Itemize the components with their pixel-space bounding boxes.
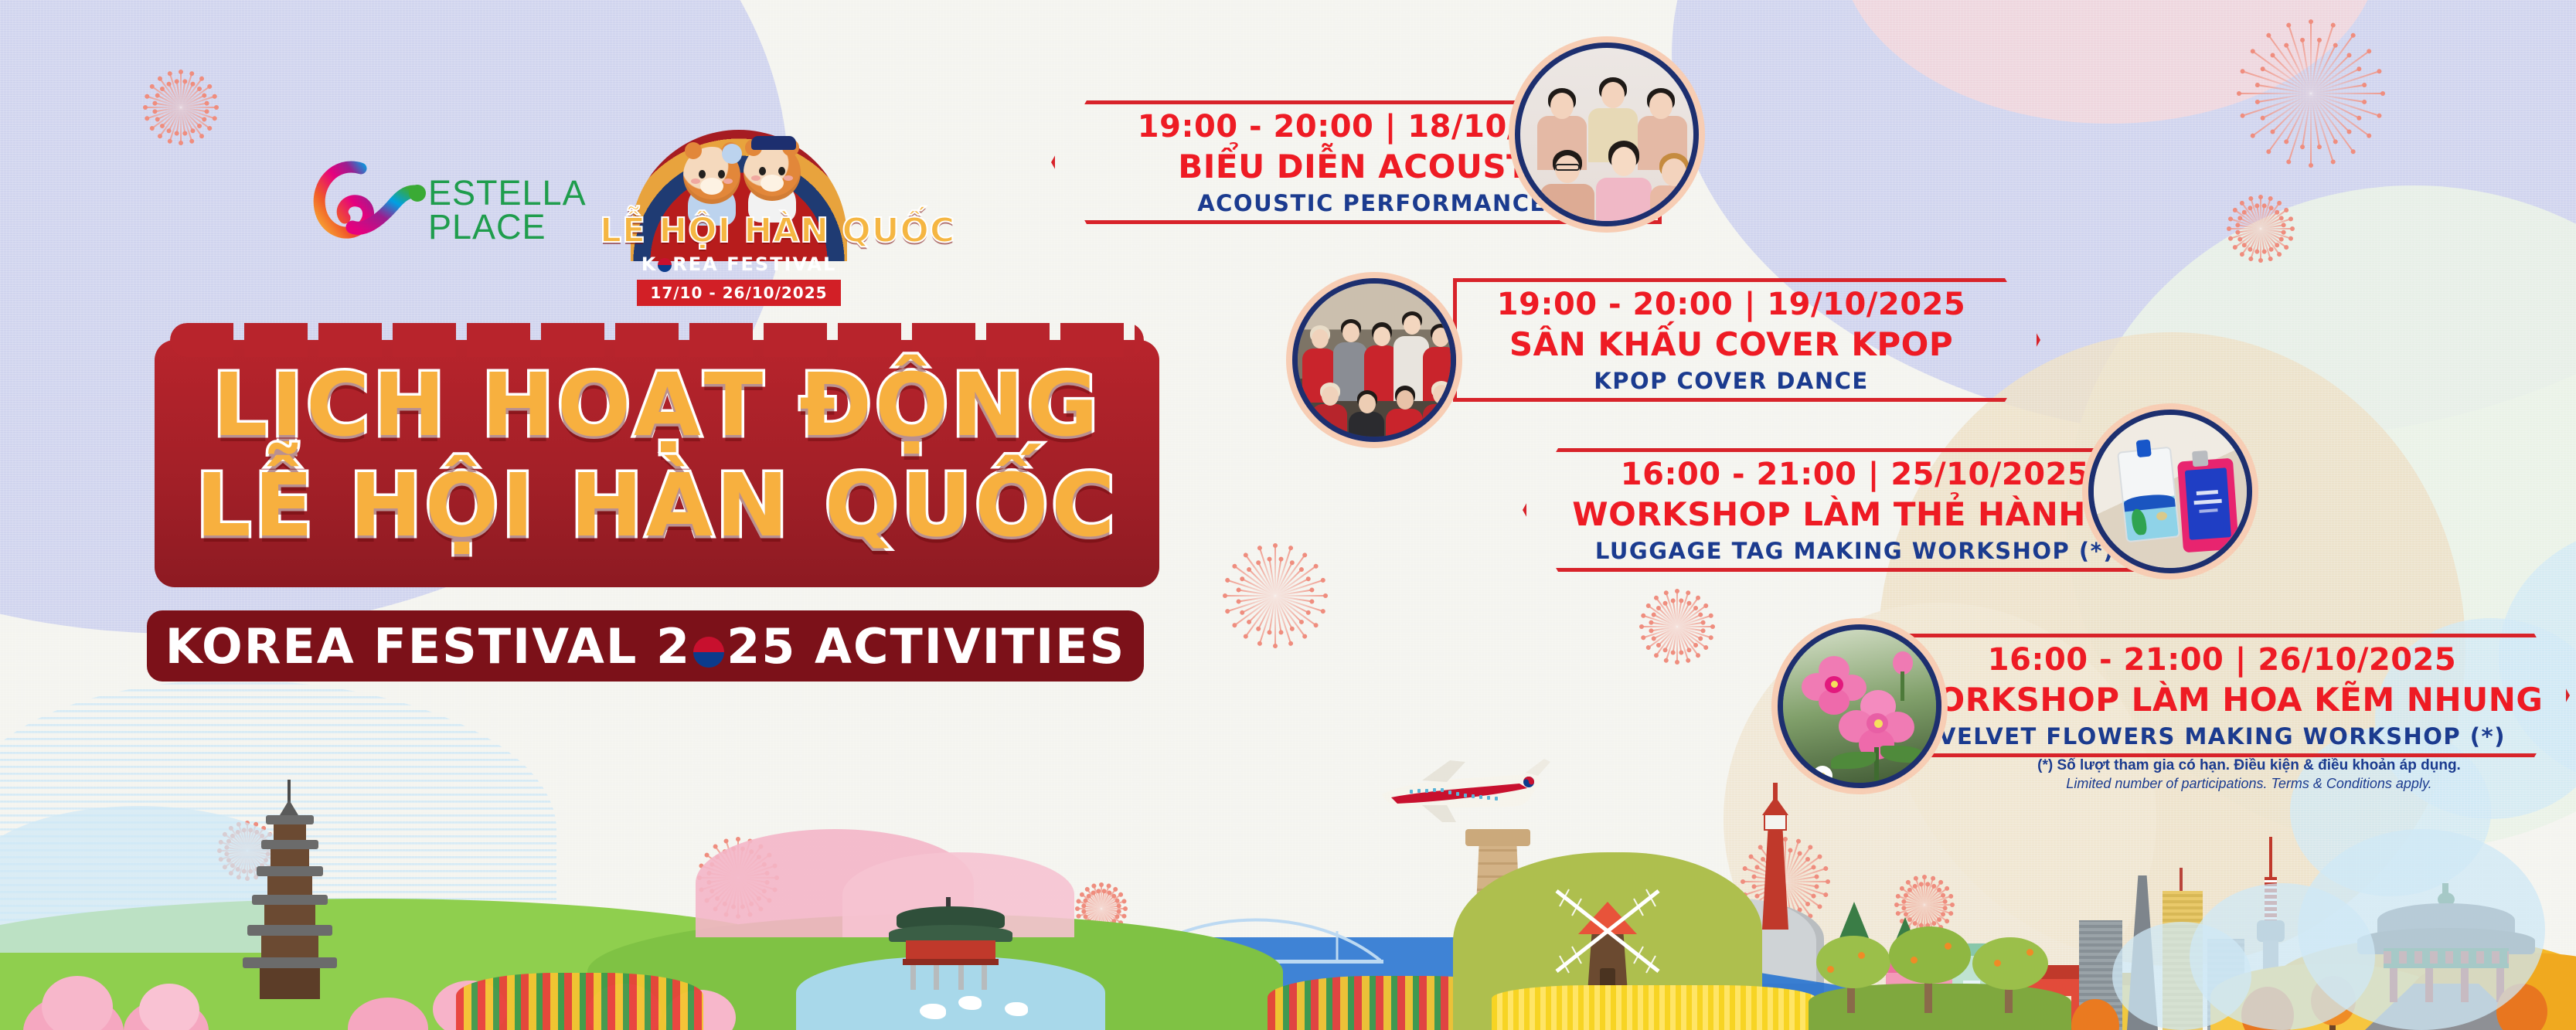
velvet-flower-photo	[1778, 624, 1941, 788]
event-title-vi: BIỂU DIỄN ACOUSTIC	[1178, 148, 1566, 185]
event-title-vi: WORKSHOP LÀM HOA KẼM NHUNG	[1901, 681, 2544, 719]
swan-icon	[920, 1004, 946, 1019]
event-card-velvet-flower[interactable]: 16:00 - 21:00 | 26/10/2025 WORKSHOP LÀM …	[1905, 634, 2570, 757]
korea-festival-banner: ESTELLA PLACE L	[0, 0, 2576, 1030]
luggage-tag-photo	[2088, 410, 2252, 573]
event-content: 16:00 - 21:00 | 26/10/2025 WORKSHOP LÀM …	[1905, 634, 2570, 757]
taeguk-symbol-icon	[693, 637, 724, 668]
acoustic-band-photo	[1515, 42, 1699, 226]
swan-icon	[1005, 1002, 1028, 1016]
firework-burst-icon	[1638, 587, 1716, 665]
event-content: 19:00 - 20:00 | 19/10/2025 SÂN KHẤU COVE…	[1453, 278, 2040, 402]
event-title-en: VELVET FLOWERS MAKING WORKSHOP (*)	[1938, 723, 2506, 750]
event-title-en: KPOP COVER DANCE	[1594, 368, 1868, 394]
event-title-en: ACOUSTIC PERFORMANCE	[1197, 190, 1547, 216]
swan-icon	[958, 996, 982, 1010]
event-datetime: 16:00 - 21:00 | 26/10/2025	[1988, 642, 2456, 678]
firework-burst-icon	[1221, 541, 1329, 649]
kpop-dance-group-photo	[1292, 278, 1456, 442]
brand-line-2: PLACE	[428, 210, 587, 244]
festival-logo-subtitle: KREA FESTIVAL	[600, 253, 878, 275]
persimmon-orchard-icon	[1809, 914, 2071, 1030]
estella-place-wordmark: ESTELLA PLACE	[428, 176, 587, 244]
headline-plaque: LỊCH HOẠT ĐỘNG LỄ HỘI HÀN QUỐC	[155, 340, 1159, 587]
event-content: 16:00 - 21:00 | 25/10/2025 WORKSHOP LÀM …	[1523, 448, 2156, 572]
event-title-en: LUGGAGE TAG MAKING WORKSHOP (*)	[1595, 538, 2115, 564]
headline-line-2: LỄ HỘI HÀN QUỐC	[155, 456, 1159, 556]
disclaimer-vi: (*) Số lượt tham gia có hạn. Điều kiện &…	[1963, 757, 2535, 774]
lakeside-pavilion-icon	[889, 897, 1012, 990]
event-datetime: 16:00 - 21:00 | 25/10/2025	[1621, 457, 2089, 492]
festival-logo-title: LỄ HỘI HÀN QUỐC	[600, 211, 878, 250]
event-datetime: 19:00 - 20:00 | 19/10/2025	[1497, 287, 1965, 322]
flower-bud-icon	[1891, 651, 1914, 682]
firework-burst-icon	[2234, 15, 2388, 170]
lighthouse-icon	[1754, 783, 1798, 930]
event-card-luggage-tag[interactable]: 16:00 - 21:00 | 25/10/2025 WORKSHOP LÀM …	[1523, 448, 2156, 572]
event-title-vi: SÂN KHẤU COVER KPOP	[1509, 325, 1953, 363]
korea-landmarks-illustration	[0, 775, 2576, 1030]
festival-date-ribbon: 17/10 - 26/10/2025	[637, 280, 841, 306]
subbar-pre: KOREA FESTIVAL 2	[165, 618, 691, 675]
korean-pagoda-icon	[240, 780, 340, 996]
korea-festival-logo: LỄ HỘI HÀN QUỐC KREA FESTIVAL 17/10 - 26…	[600, 130, 878, 308]
festival-sub-post: REA FESTIVAL	[672, 253, 836, 275]
brand-line-1: ESTELLA	[428, 176, 587, 210]
headline-line-1: LỊCH HOẠT ĐỘNG	[155, 355, 1159, 456]
cloud-cluster-bottom-right	[2205, 829, 2576, 1030]
subbar-post: 25 ACTIVITIES	[727, 618, 1125, 675]
estella-place-logo: ESTELLA PLACE	[312, 156, 536, 257]
event-title-vi: WORKSHOP LÀM THẺ HÀNH LÝ	[1572, 495, 2137, 533]
firework-burst-icon	[2226, 193, 2295, 263]
subtitle-bar-text: KOREA FESTIVAL 225 ACTIVITIES	[165, 618, 1125, 675]
event-card-kpop[interactable]: 19:00 - 20:00 | 19/10/2025 SÂN KHẤU COVE…	[1453, 278, 2040, 402]
estella-swirl-logo-icon	[312, 156, 428, 249]
firework-burst-icon	[142, 68, 219, 145]
festival-sub-pre: K	[641, 253, 658, 275]
taeguk-symbol-icon	[658, 258, 672, 272]
subtitle-bar: KOREA FESTIVAL 225 ACTIVITIES	[147, 610, 1144, 682]
